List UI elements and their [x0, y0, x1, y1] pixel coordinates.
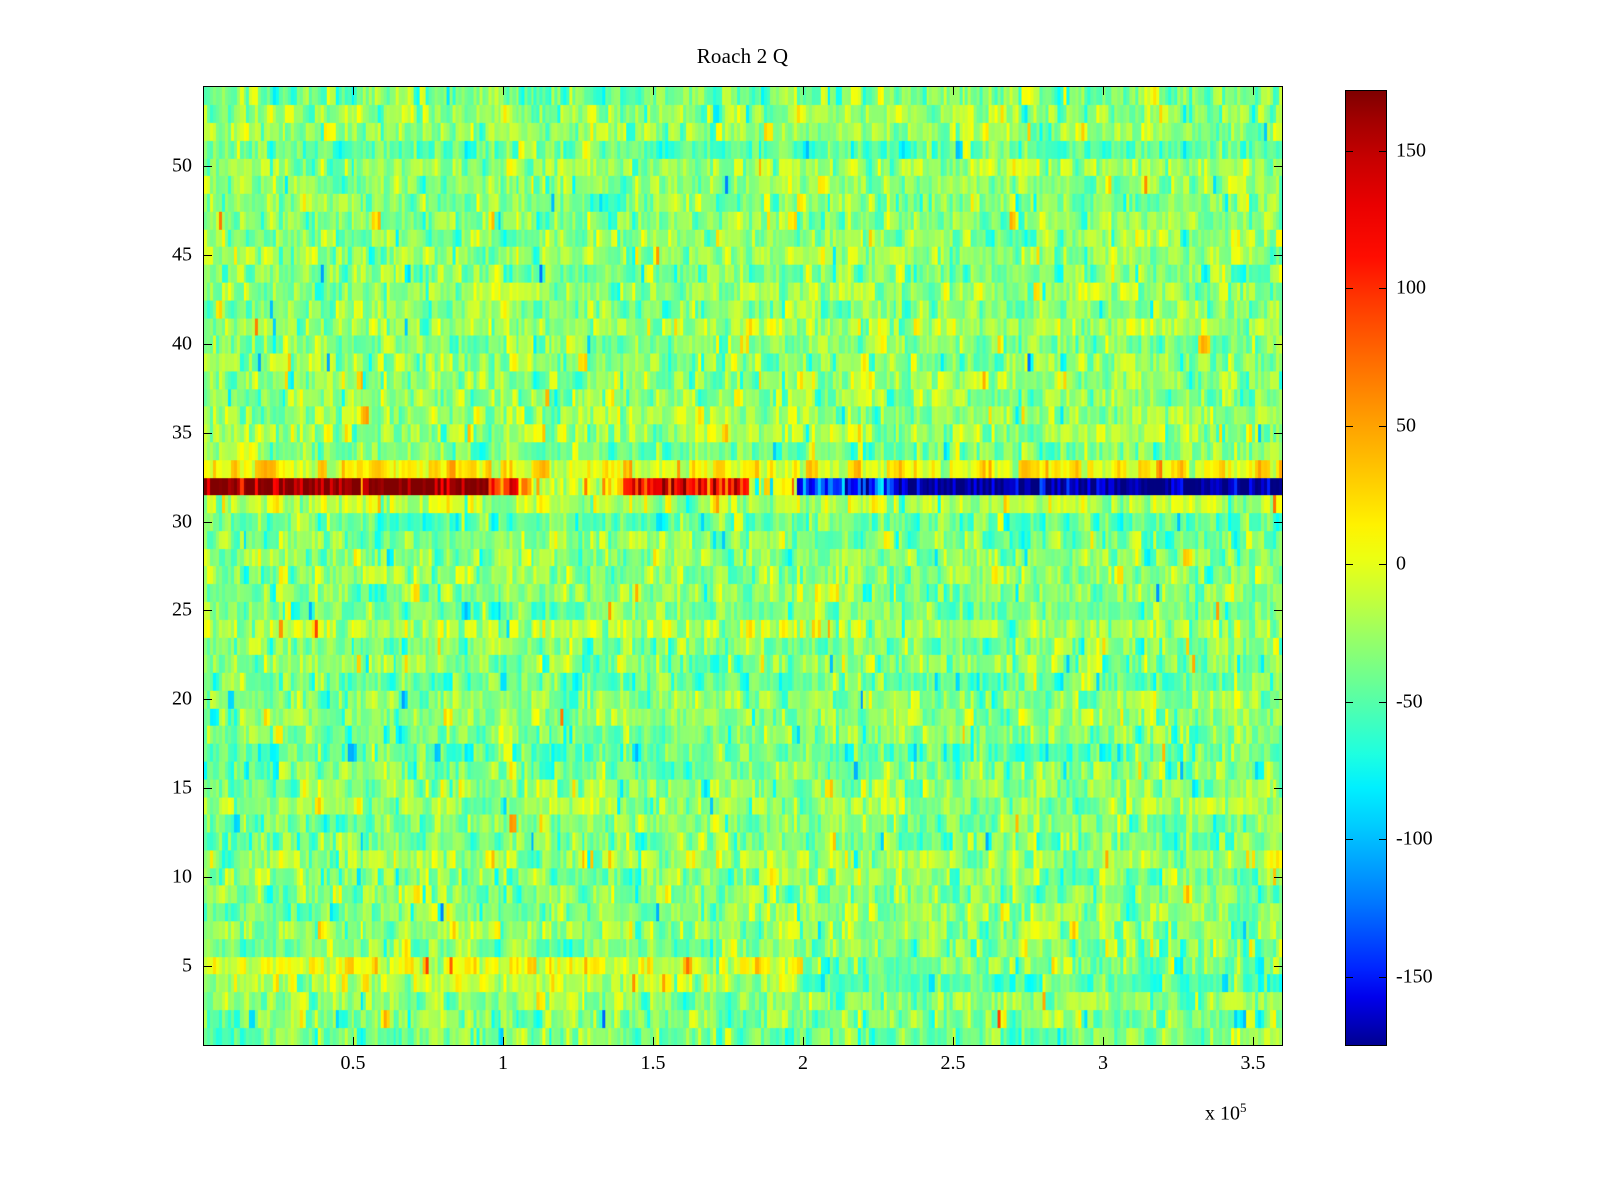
x-axis-exponent-label: x 105: [1205, 1100, 1247, 1126]
x-exponent-power: 5: [1240, 1100, 1247, 1115]
x-tick-mark: [1103, 1037, 1104, 1046]
colorbar-tick-mark-right: [1379, 977, 1387, 978]
x-tick-label: 3: [1098, 1052, 1108, 1075]
x-tick-label: 0.5: [341, 1052, 366, 1075]
x-tick-mark-top: [503, 86, 504, 95]
y-tick-label: 15: [172, 777, 192, 800]
x-tick-mark: [953, 1037, 954, 1046]
y-tick-mark: [203, 966, 212, 967]
x-tick-mark: [803, 1037, 804, 1046]
colorbar-tick-mark-right: [1379, 426, 1387, 427]
colorbar-tick-mark: [1345, 564, 1353, 565]
x-tick-mark-top: [803, 86, 804, 95]
colorbar-tick-mark: [1345, 288, 1353, 289]
y-tick-mark-right: [1274, 344, 1283, 345]
y-tick-mark-right: [1274, 166, 1283, 167]
x-tick-mark: [1253, 1037, 1254, 1046]
y-tick-mark: [203, 699, 212, 700]
x-tick-label: 1.5: [641, 1052, 666, 1075]
colorbar[interactable]: [1345, 90, 1387, 1046]
y-tick-mark: [203, 166, 212, 167]
colorbar-tick-mark: [1345, 839, 1353, 840]
y-tick-mark-right: [1274, 522, 1283, 523]
colorbar-tick-label: -100: [1396, 828, 1433, 851]
y-tick-label: 40: [172, 332, 192, 355]
x-exponent-base: x 10: [1205, 1103, 1240, 1125]
x-tick-label: 2.5: [941, 1052, 966, 1075]
x-tick-label: 1: [498, 1052, 508, 1075]
colorbar-tick-mark-right: [1379, 839, 1387, 840]
colorbar-tick-label: 150: [1396, 139, 1426, 162]
colorbar-tick-mark-right: [1379, 702, 1387, 703]
y-tick-label: 5: [182, 955, 192, 978]
x-tick-mark-top: [953, 86, 954, 95]
colorbar-tick-mark-right: [1379, 288, 1387, 289]
x-tick-label: 3.5: [1241, 1052, 1266, 1075]
y-tick-mark-right: [1274, 610, 1283, 611]
colorbar-tick-label: 50: [1396, 415, 1416, 438]
y-tick-mark: [203, 433, 212, 434]
y-tick-label: 20: [172, 688, 192, 711]
heatmap-axes[interactable]: [203, 86, 1283, 1046]
y-tick-label: 25: [172, 599, 192, 622]
y-tick-mark: [203, 877, 212, 878]
x-tick-mark-top: [653, 86, 654, 95]
colorbar-tick-label: 0: [1396, 552, 1406, 575]
y-tick-mark: [203, 610, 212, 611]
x-tick-mark: [503, 1037, 504, 1046]
x-tick-label: 2: [798, 1052, 808, 1075]
heatmap-image: [204, 87, 1282, 1045]
page-title: Roach 2 Q: [0, 44, 1485, 69]
colorbar-tick-mark-right: [1379, 151, 1387, 152]
y-tick-mark-right: [1274, 966, 1283, 967]
y-tick-label: 30: [172, 510, 192, 533]
x-tick-mark: [653, 1037, 654, 1046]
matlab-figure-window: Roach 2 Q 5101520253035404550 0.511.522.…: [0, 0, 1600, 1200]
y-tick-mark: [203, 255, 212, 256]
colorbar-tick-label: 100: [1396, 277, 1426, 300]
x-tick-mark-top: [1103, 86, 1104, 95]
y-tick-mark-right: [1274, 255, 1283, 256]
x-tick-mark-top: [353, 86, 354, 95]
x-tick-mark-top: [1253, 86, 1254, 95]
colorbar-tick-label: -150: [1396, 966, 1433, 989]
y-tick-mark-right: [1274, 877, 1283, 878]
colorbar-tick-mark: [1345, 702, 1353, 703]
y-tick-mark: [203, 788, 212, 789]
x-tick-mark: [353, 1037, 354, 1046]
y-tick-mark: [203, 522, 212, 523]
colorbar-gradient: [1346, 91, 1386, 1045]
colorbar-tick-mark: [1345, 426, 1353, 427]
y-tick-mark-right: [1274, 788, 1283, 789]
colorbar-tick-mark: [1345, 151, 1353, 152]
y-tick-label: 10: [172, 866, 192, 889]
colorbar-tick-mark-right: [1379, 564, 1387, 565]
colorbar-tick-label: -50: [1396, 690, 1423, 713]
y-tick-mark-right: [1274, 433, 1283, 434]
y-tick-label: 45: [172, 243, 192, 266]
y-tick-mark-right: [1274, 699, 1283, 700]
y-tick-label: 50: [172, 155, 192, 178]
y-tick-mark: [203, 344, 212, 345]
y-tick-label: 35: [172, 421, 192, 444]
colorbar-tick-mark: [1345, 977, 1353, 978]
